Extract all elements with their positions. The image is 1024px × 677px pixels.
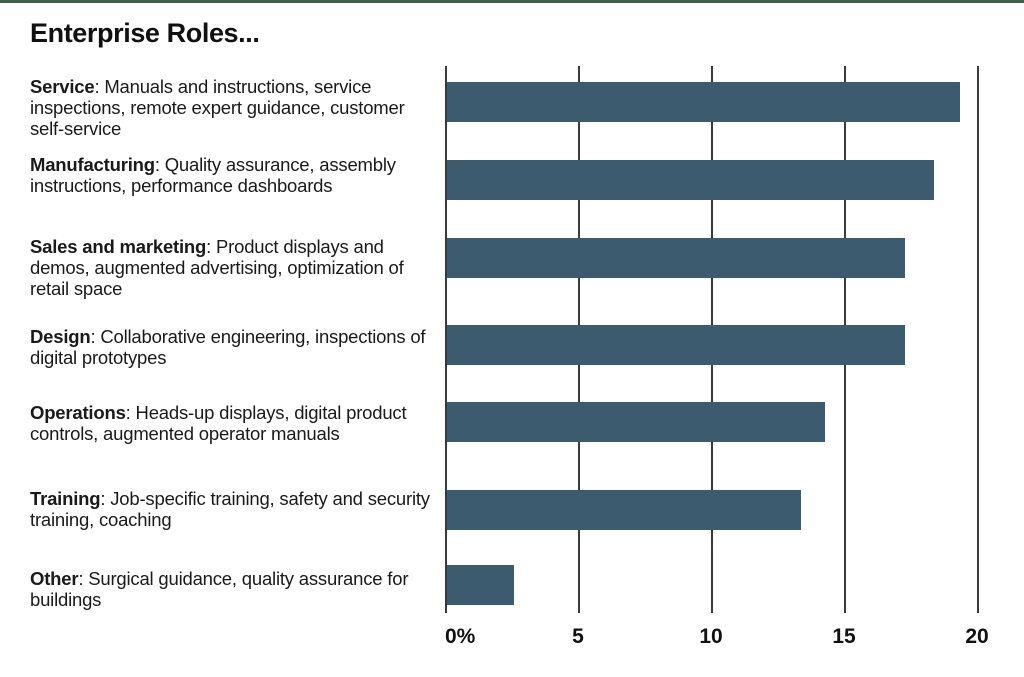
- category-label: Manufacturing: Quality assurance, assemb…: [30, 154, 440, 196]
- category-name: Service: [30, 76, 94, 97]
- category-name: Sales and marketing: [30, 236, 206, 257]
- top-accent-rule: [0, 0, 1024, 3]
- category-label: Design: Collaborative engineering, inspe…: [30, 326, 440, 368]
- category-label: Sales and marketing: Product displays an…: [30, 236, 440, 299]
- gridline: [977, 66, 979, 613]
- page-title: Enterprise Roles...: [30, 18, 259, 49]
- bar: [447, 325, 905, 365]
- bar: [447, 238, 905, 278]
- category-description: : Collaborative engineering, inspections…: [30, 326, 425, 368]
- category-label-list: Service: Manuals and instructions, servi…: [30, 68, 438, 613]
- category-name: Training: [30, 488, 100, 509]
- bar: [447, 490, 801, 530]
- category-name: Other: [30, 568, 78, 589]
- x-tick-label: 20: [965, 625, 988, 649]
- category-label: Service: Manuals and instructions, servi…: [30, 76, 440, 139]
- category-label: Other: Surgical guidance, quality assura…: [30, 568, 440, 610]
- x-tick-label: 5: [572, 625, 584, 649]
- category-name: Operations: [30, 402, 126, 423]
- category-label: Training: Job-specific training, safety …: [30, 488, 440, 530]
- x-tick-label: 0%: [445, 625, 475, 649]
- x-tick-label: 15: [832, 625, 855, 649]
- chart-plot-area: [445, 66, 1024, 613]
- category-label: Operations: Heads-up displays, digital p…: [30, 402, 440, 444]
- x-tick-label: 10: [699, 625, 722, 649]
- x-axis-tick-labels: 0%5101520: [445, 625, 1024, 659]
- bar: [447, 565, 514, 605]
- category-description: : Surgical guidance, quality assurance f…: [30, 568, 408, 610]
- bar: [447, 402, 825, 442]
- category-name: Manufacturing: [30, 154, 155, 175]
- bar: [447, 82, 960, 122]
- category-name: Design: [30, 326, 90, 347]
- bar: [447, 160, 934, 200]
